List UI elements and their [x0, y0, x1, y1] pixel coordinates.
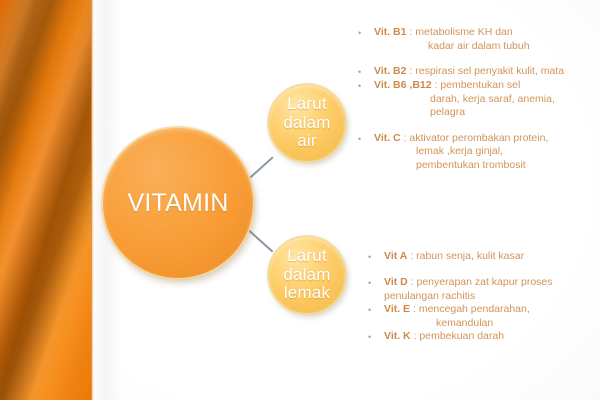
vitamin-desc-continuation: darah, kerja saraf, anemia,: [374, 93, 598, 107]
vitamin-name: Vit. E: [384, 303, 410, 315]
separator: :: [406, 65, 415, 77]
vitamin-desc: penyerapan zat kapur proses: [417, 276, 553, 288]
list-item: • Vit. B6 ,B12 : pembentukan sel darah, …: [358, 79, 598, 120]
list-item: • Vit. C : aktivator perombakan protein,…: [358, 132, 598, 173]
bullet-icon: •: [368, 250, 384, 264]
list-item: • Vit. B1 : metabolisme KH dan kadar air…: [358, 26, 598, 53]
bullet-icon: •: [358, 132, 374, 146]
fat-soluble-vitamin-list: • Vit A : rabun senja, kulit kasar • Vit…: [368, 250, 598, 344]
separator: :: [408, 276, 417, 288]
node-larut-dalam-air[interactable]: Larut dalam air: [268, 84, 346, 162]
list-item: • Vit D : penyerapan zat kapur proses pe…: [368, 276, 598, 303]
list-item-body: Vit. K : pembekuan darah: [384, 330, 598, 344]
node-air-line-3: air: [280, 132, 333, 150]
vitamin-desc-continuation: kemandulan: [384, 317, 598, 331]
list-item-body: Vit. B1 : metabolisme KH dan kadar air d…: [374, 26, 598, 53]
vitamin-name: Vit D: [384, 276, 408, 288]
node-larut-dalam-lemak[interactable]: Larut dalam lemak: [268, 236, 346, 314]
bullet-icon: •: [358, 26, 374, 40]
vitamin-desc: pembentukan sel: [440, 79, 520, 91]
node-air-line-2: dalam: [280, 114, 333, 132]
bullet-icon: •: [368, 330, 384, 344]
vitamin-desc-continuation: pelagra: [374, 106, 598, 120]
vitamin-name: Vit A: [384, 250, 407, 262]
vitamin-name: Vit. B6 ,B12: [374, 79, 432, 91]
list-item-body: Vit. C : aktivator perombakan protein, l…: [374, 132, 598, 173]
bullet-icon: •: [368, 303, 384, 317]
separator: :: [410, 303, 419, 315]
list-item-body: Vit. E : mencegah pendarahan, kemandulan: [384, 303, 598, 330]
bullet-icon: •: [358, 79, 374, 93]
node-lemak-line-1: Larut: [280, 247, 333, 265]
node-lemak-line-3: lemak: [280, 284, 333, 302]
vitamin-desc-continuation: lemak ,kerja ginjal,: [374, 145, 598, 159]
bullet-icon: •: [358, 65, 374, 79]
bullet-icon: •: [368, 276, 384, 290]
node-lemak-line-2: dalam: [280, 266, 333, 284]
list-spacer: [368, 264, 598, 276]
vitamin-name: Vit. K: [384, 330, 411, 342]
list-spacer: [358, 53, 598, 65]
list-item: • Vit. K : pembekuan darah: [368, 330, 598, 344]
node-larut-dalam-air-label: Larut dalam air: [280, 95, 333, 150]
list-item-body: Vit. B2 : respirasi sel penyakit kulit, …: [374, 65, 598, 79]
left-band-sheen-overlay: [0, 0, 92, 400]
vitamin-desc: rabun senja, kulit kasar: [416, 250, 524, 262]
slide-canvas: VITAMIN Larut dalam air Larut dalam lema…: [0, 0, 600, 400]
separator: :: [406, 26, 415, 38]
list-item-body: Vit D : penyerapan zat kapur proses penu…: [384, 276, 598, 303]
vitamin-desc-continuation: pembentukan trombosit: [374, 159, 598, 173]
node-larut-dalam-lemak-label: Larut dalam lemak: [280, 247, 333, 302]
vitamin-name: Vit. B1: [374, 26, 406, 38]
vitamin-name: Vit. B2: [374, 65, 406, 77]
list-spacer: [358, 120, 598, 132]
list-item-body: Vit A : rabun senja, kulit kasar: [384, 250, 598, 264]
list-item: • Vit. B2 : respirasi sel penyakit kulit…: [358, 65, 598, 79]
node-vitamin-center-label: VITAMIN: [128, 190, 229, 217]
list-item-body: Vit. B6 ,B12 : pembentukan sel darah, ke…: [374, 79, 598, 120]
vitamin-name: Vit. C: [374, 132, 401, 144]
vitamin-desc-continuation: kadar air dalam tubuh: [374, 40, 598, 54]
vitamin-desc: pembekuan darah: [419, 330, 504, 342]
list-item: • Vit A : rabun senja, kulit kasar: [368, 250, 598, 264]
separator: :: [407, 250, 416, 262]
list-item: • Vit. E : mencegah pendarahan, kemandul…: [368, 303, 598, 330]
vitamin-desc: aktivator perombakan protein,: [409, 132, 548, 144]
vitamin-desc: mencegah pendarahan,: [419, 303, 530, 315]
node-vitamin-center[interactable]: VITAMIN: [102, 127, 254, 279]
vitamin-desc: metabolisme KH dan: [415, 26, 512, 38]
vitamin-desc-continuation: penulangan rachitis: [384, 290, 598, 304]
vitamin-desc: respirasi sel penyakit kulit, mata: [415, 65, 564, 77]
node-air-line-1: Larut: [280, 95, 333, 113]
water-soluble-vitamin-list: • Vit. B1 : metabolisme KH dan kadar air…: [358, 26, 598, 172]
